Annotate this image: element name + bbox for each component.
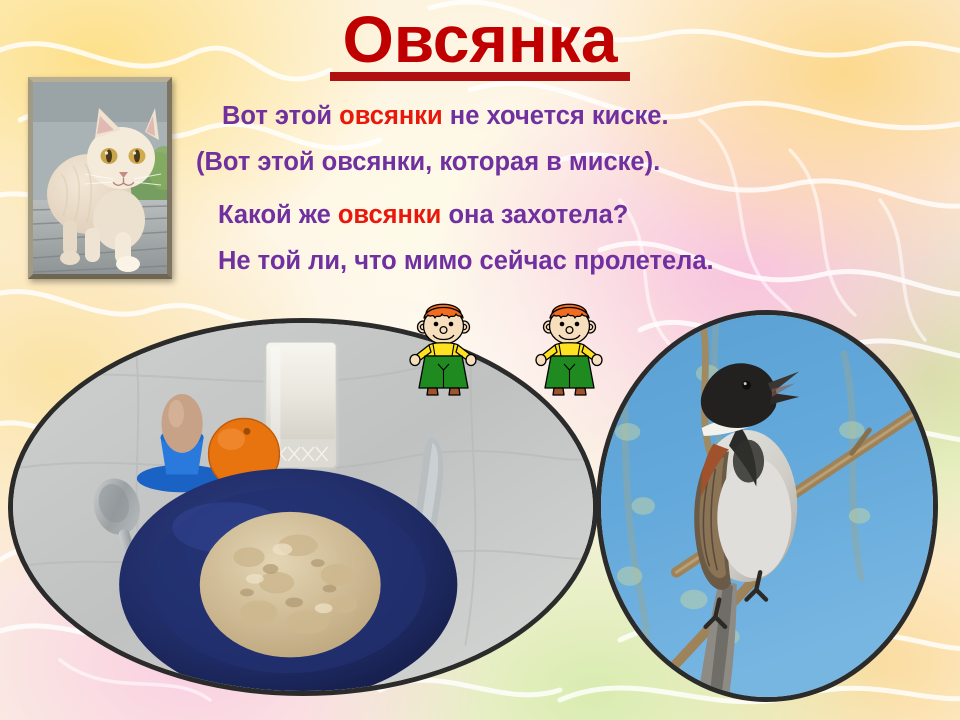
poem-line-4: Не той ли, что мимо сейчас пролетела. xyxy=(218,249,896,275)
cat-photo-frame xyxy=(28,77,172,279)
poem-line-1-before: Вот этой xyxy=(222,102,339,130)
poem-line-3: Какой же овсянки она захотела? xyxy=(218,203,896,229)
title-container: Овсянка xyxy=(0,6,960,73)
poem-line-3-highlight: овсянки xyxy=(338,201,442,229)
bird-photo-oval xyxy=(596,310,938,702)
poem-line-1-after: не хочется киске. xyxy=(443,102,669,130)
breakfast-photo-oval xyxy=(8,318,598,696)
cartoon-boy-right xyxy=(530,294,608,402)
page-title: Овсянка xyxy=(342,6,617,73)
poem-line-1: Вот этой овсянки не хочется киске. xyxy=(222,104,896,130)
poem-text-block: Вот этой овсянки не хочется киске. (Вот … xyxy=(196,104,896,274)
cat-photo xyxy=(33,82,167,274)
boy-figure-icon xyxy=(404,294,482,402)
poem-line-3-before: Какой же xyxy=(218,201,338,229)
cartoon-boy-left xyxy=(404,294,482,402)
bird-photo xyxy=(601,315,933,697)
boy-figure-icon xyxy=(530,294,608,402)
poem-line-1-highlight: овсянки xyxy=(339,102,443,130)
title-underline-bar xyxy=(330,72,630,81)
poem-line-2: (Вот этой овсянки, которая в миске). xyxy=(196,150,896,176)
slide-canvas: Овсянка xyxy=(0,0,960,720)
breakfast-photo xyxy=(13,323,593,691)
poem-line-3-after: она захотела? xyxy=(441,201,628,229)
